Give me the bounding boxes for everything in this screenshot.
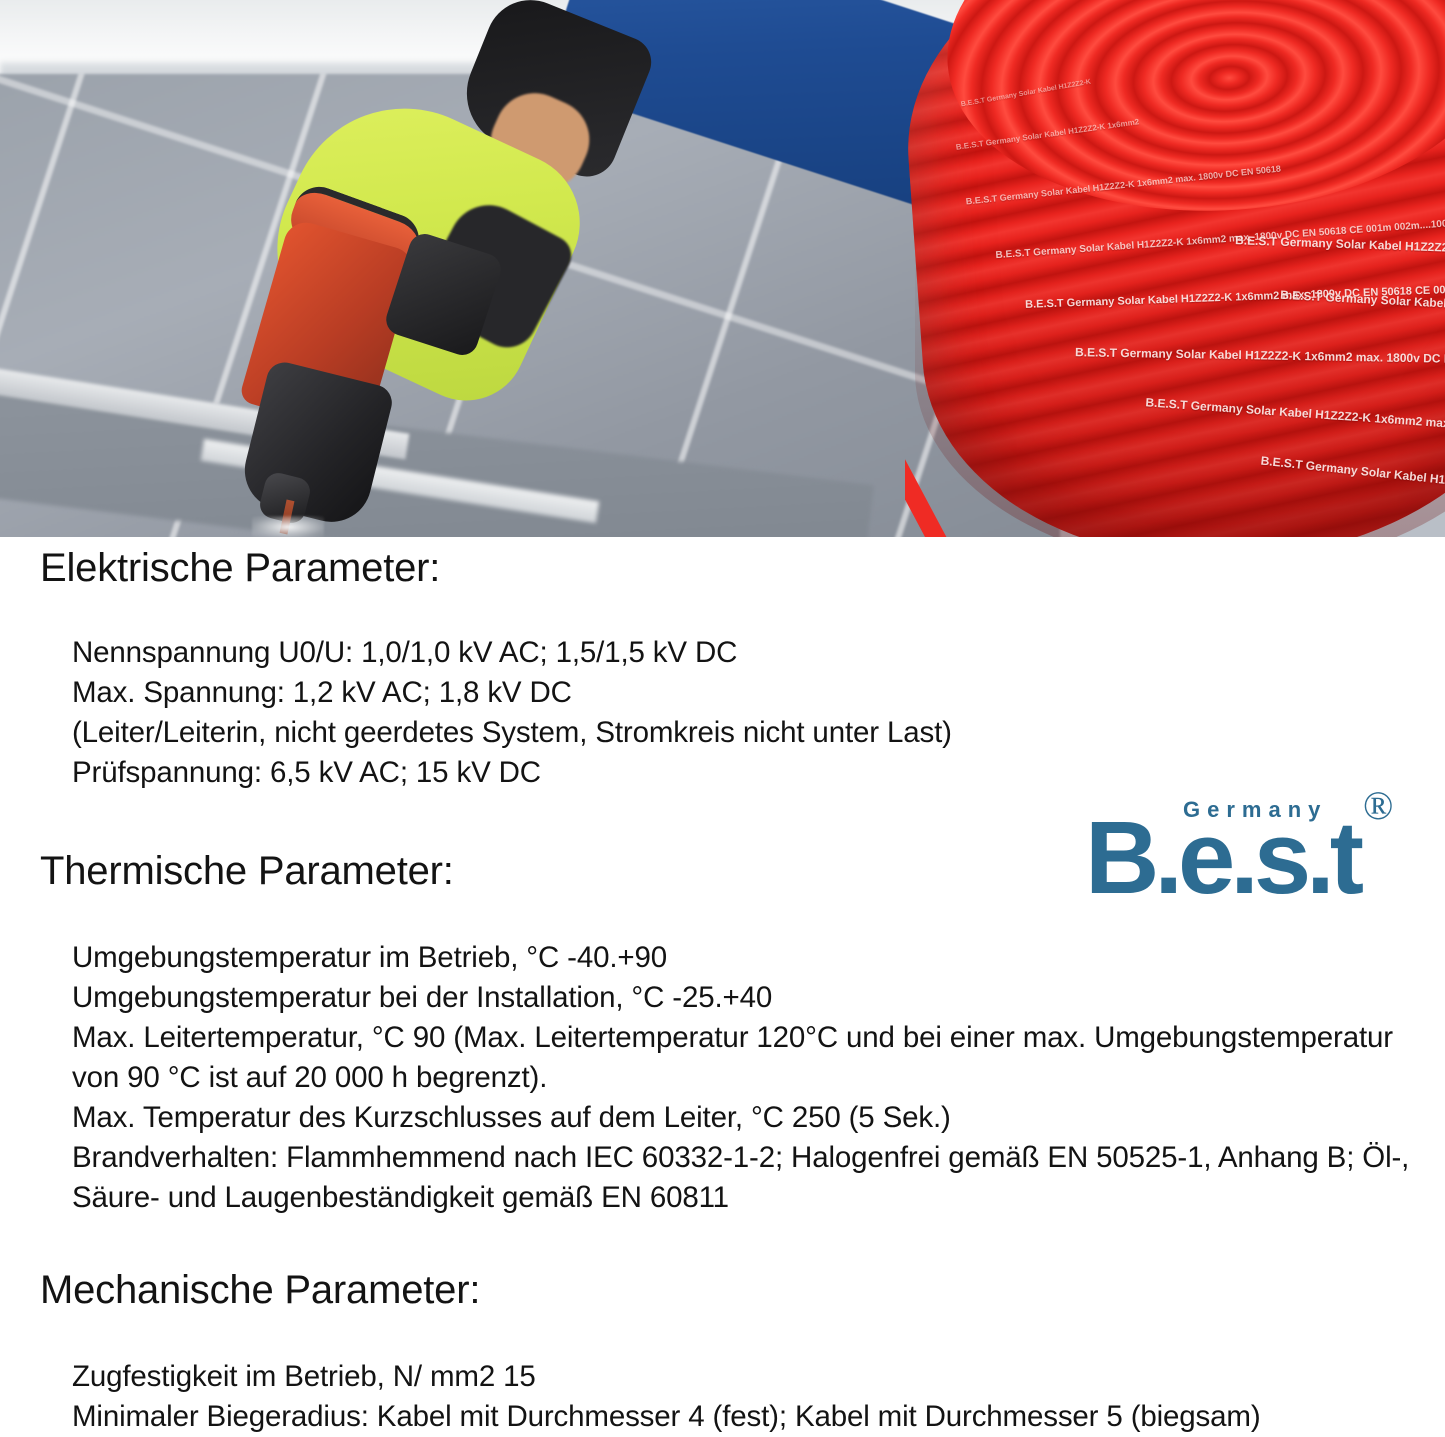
mechanical-parameter-list: Zugfestigkeit im Betrieb, N/ mm2 15 Mini… [0,1310,1445,1437]
best-germany-logo: Germany ® B.e.s.t [1085,790,1415,920]
heading-mechanical-parameters: Mechanische Parameter: [0,1270,1445,1310]
specification-content: Elektrische Parameter: Nennspannung U0/U… [0,537,1445,1437]
list-item: Zugfestigkeit im Betrieb, N/ mm2 15 [72,1357,1445,1397]
thermal-parameter-list: Umgebungstemperatur im Betrieb, °C -40.+… [0,891,1445,1218]
section-mechanical-parameters: Mechanische Parameter: Zugfestigkeit im … [0,1218,1445,1437]
list-item: Nennspannung U0/U: 1,0/1,0 kV AC; 1,5/1,… [72,633,1445,673]
list-item: Umgebungstemperatur im Betrieb, °C -40.+… [72,938,1445,978]
fastening-point [252,516,324,537]
list-item: Max. Temperatur des Kurzschlusses auf de… [72,1098,1445,1138]
hero-photo [0,0,1445,537]
logo-wordmark: B.e.s.t [1085,806,1359,909]
heading-electrical-parameters: Elektrische Parameter: [0,548,1445,588]
section-electrical-parameters: Elektrische Parameter: Nennspannung U0/U… [0,537,1445,793]
electrical-parameter-list: Nennspannung U0/U: 1,0/1,0 kV AC; 1,5/1,… [0,588,1445,793]
list-item: (Leiter/Leiterin, nicht geerdetes System… [72,713,1445,753]
list-item: Brandverhalten: Flammhemmend nach IEC 60… [72,1138,1445,1218]
list-item: Minimaler Biegeradius: Kabel mit Durchme… [72,1397,1445,1437]
list-item: Umgebungstemperatur bei der Installation… [72,978,1445,1018]
list-item: Prüfspannung: 6,5 kV AC; 15 kV DC [72,753,1445,793]
list-item: Max. Leitertemperatur, °C 90 (Max. Leite… [72,1018,1445,1098]
list-item: Max. Spannung: 1,2 kV AC; 1,8 kV DC [72,673,1445,713]
registered-trademark-icon: ® [1363,786,1393,826]
